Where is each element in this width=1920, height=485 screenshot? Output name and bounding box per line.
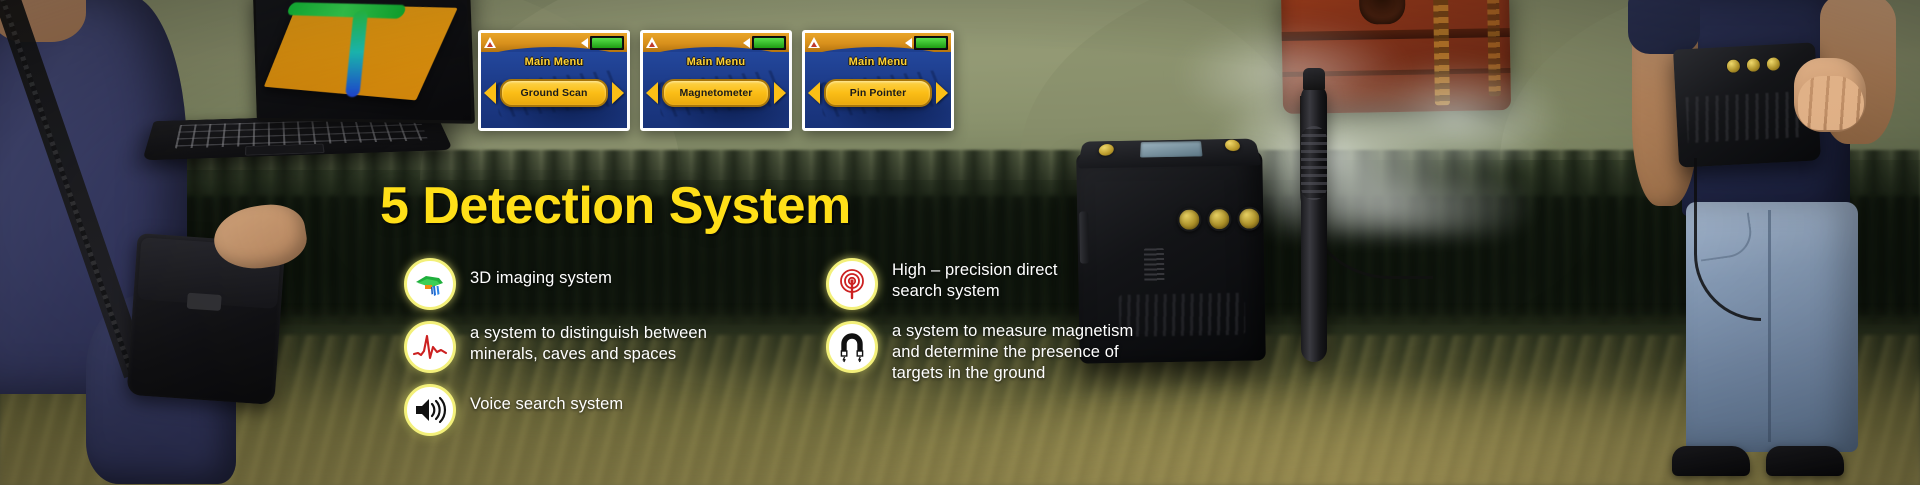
handheld-branding-emboss xyxy=(1686,91,1804,143)
device-status-bar xyxy=(481,33,627,52)
brand-triangle-icon xyxy=(646,37,658,48)
detection-system-banner: Main Menu Ground Scan xyxy=(0,0,1920,485)
operator-right-fingers xyxy=(1798,76,1864,130)
handheld-connectors xyxy=(1726,56,1782,74)
speaker-icon xyxy=(743,38,750,48)
device-mode-button[interactable]: Magnetometer xyxy=(662,79,770,107)
page-title: 5 Detection System xyxy=(380,176,851,236)
device-panel-magnetometer[interactable]: Main Menu Magnetometer xyxy=(640,30,792,131)
left-arrow-icon[interactable] xyxy=(484,82,496,104)
brand-triangle-icon xyxy=(808,37,820,48)
speaker-sound-icon xyxy=(404,384,456,436)
device-panel-title: Main Menu xyxy=(481,56,627,68)
detector-top-face xyxy=(1077,139,1261,169)
battery-level-fill xyxy=(754,38,784,48)
left-arrow-icon[interactable] xyxy=(808,82,820,104)
device-panel-ground-scan[interactable]: Main Menu Ground Scan xyxy=(478,30,630,131)
handheld-connector xyxy=(1726,58,1742,74)
operator-right-shoe xyxy=(1766,446,1844,476)
feature-item-high-precision-search: High – precision direct search system xyxy=(826,258,1226,310)
device-panel-body: Main Menu Ground Scan xyxy=(481,52,627,128)
feature-label-line: a system to distinguish between xyxy=(470,324,707,342)
battery-level-fill xyxy=(592,38,622,48)
device-mode-selector[interactable]: Ground Scan xyxy=(481,79,627,107)
chest-rivets xyxy=(1433,0,1450,105)
battery-full-icon xyxy=(752,36,786,50)
horseshoe-magnet-icon xyxy=(826,321,878,373)
search-pole-tip xyxy=(1303,68,1325,90)
search-pole-grip xyxy=(1301,126,1327,200)
feature-label-line: High – precision direct xyxy=(892,261,1058,279)
battery-full-icon xyxy=(590,36,624,50)
brand-wordmark xyxy=(498,40,499,46)
right-arrow-icon[interactable] xyxy=(612,82,624,104)
feature-item-mineral-discrimination: a system to distinguish between minerals… xyxy=(404,321,764,373)
brand-wordmark xyxy=(822,40,823,46)
speaker-icon xyxy=(581,38,588,48)
device-status-bar xyxy=(643,33,789,52)
detector-connector xyxy=(1237,206,1261,230)
brand-wordmark xyxy=(660,40,661,46)
feature-label-line: and determine the presence of xyxy=(892,343,1119,361)
handheld-connector xyxy=(1746,57,1762,73)
battery-full-icon xyxy=(914,36,948,50)
device-status-indicators xyxy=(581,36,624,50)
device-panel-title: Main Menu xyxy=(805,56,951,68)
detector-display xyxy=(1140,141,1203,158)
feature-label-line: minerals, caves and spaces xyxy=(470,345,676,363)
feature-label-line: a system to measure magnetism xyxy=(892,322,1133,340)
jeans-seam xyxy=(1768,210,1771,442)
laptop-trackpad xyxy=(245,144,325,156)
feature-label: Voice search system xyxy=(470,384,623,415)
chest-rivets xyxy=(1487,0,1501,96)
bag-buckle xyxy=(187,293,222,311)
strap-stitching xyxy=(0,0,135,376)
search-pole xyxy=(1301,84,1327,362)
operator-right-sleeve xyxy=(1628,0,1700,54)
right-arrow-icon[interactable] xyxy=(936,82,948,104)
brand-triangle-icon xyxy=(484,37,496,48)
feature-label: a system to measure magnetism and determ… xyxy=(892,321,1133,384)
right-arrow-icon[interactable] xyxy=(774,82,786,104)
speaker-icon xyxy=(905,38,912,48)
3d-terrain-icon xyxy=(404,258,456,310)
feature-label-line: targets in the ground xyxy=(892,364,1045,382)
detector-knob xyxy=(1098,144,1115,156)
laptop xyxy=(150,0,450,162)
shoulder-strap xyxy=(0,0,149,378)
feature-label: a system to distinguish between minerals… xyxy=(470,321,707,365)
battery-level-fill xyxy=(916,38,946,48)
device-status-indicators xyxy=(743,36,786,50)
detector-connector xyxy=(1177,207,1201,231)
waveform-pulse-icon xyxy=(404,321,456,373)
device-status-bar xyxy=(805,33,951,52)
device-brand-logo xyxy=(646,37,661,48)
target-signal-icon xyxy=(826,258,878,310)
feature-list-right: High – precision direct search system a … xyxy=(826,258,1226,395)
detector-connector xyxy=(1207,207,1231,231)
operator-right-shoe xyxy=(1672,446,1750,476)
device-panel-title: Main Menu xyxy=(643,56,789,68)
feature-item-3d-imaging: 3D imaging system xyxy=(404,258,764,310)
device-mode-selector[interactable]: Magnetometer xyxy=(643,79,789,107)
device-brand-logo xyxy=(484,37,499,48)
device-mode-selector[interactable]: Pin Pointer xyxy=(805,79,951,107)
feature-list-left: 3D imaging system a system to distinguis… xyxy=(404,258,764,447)
device-menu-panels: Main Menu Ground Scan xyxy=(478,30,954,131)
device-mode-button[interactable]: Ground Scan xyxy=(500,79,608,107)
detector-knob xyxy=(1224,140,1241,152)
device-panel-body: Main Menu Magnetometer xyxy=(643,52,789,128)
left-arrow-icon[interactable] xyxy=(646,82,658,104)
feature-item-voice-search: Voice search system xyxy=(404,384,764,436)
device-panel-pin-pointer[interactable]: Main Menu Pin Pointer xyxy=(802,30,954,131)
feature-label: High – precision direct search system xyxy=(892,258,1058,302)
device-mode-button[interactable]: Pin Pointer xyxy=(824,79,932,107)
detector-connectors xyxy=(1177,206,1261,231)
device-status-indicators xyxy=(905,36,948,50)
laptop-screen xyxy=(253,0,475,124)
feature-item-magnetism: a system to measure magnetism and determ… xyxy=(826,321,1226,384)
device-panel-body: Main Menu Pin Pointer xyxy=(805,52,951,128)
feature-label-line: search system xyxy=(892,282,1000,300)
device-brand-logo xyxy=(808,37,823,48)
feature-label: 3D imaging system xyxy=(470,258,612,289)
operator-right xyxy=(1598,0,1920,485)
handheld-connector xyxy=(1766,56,1782,72)
detector-side-grip xyxy=(1079,211,1089,263)
